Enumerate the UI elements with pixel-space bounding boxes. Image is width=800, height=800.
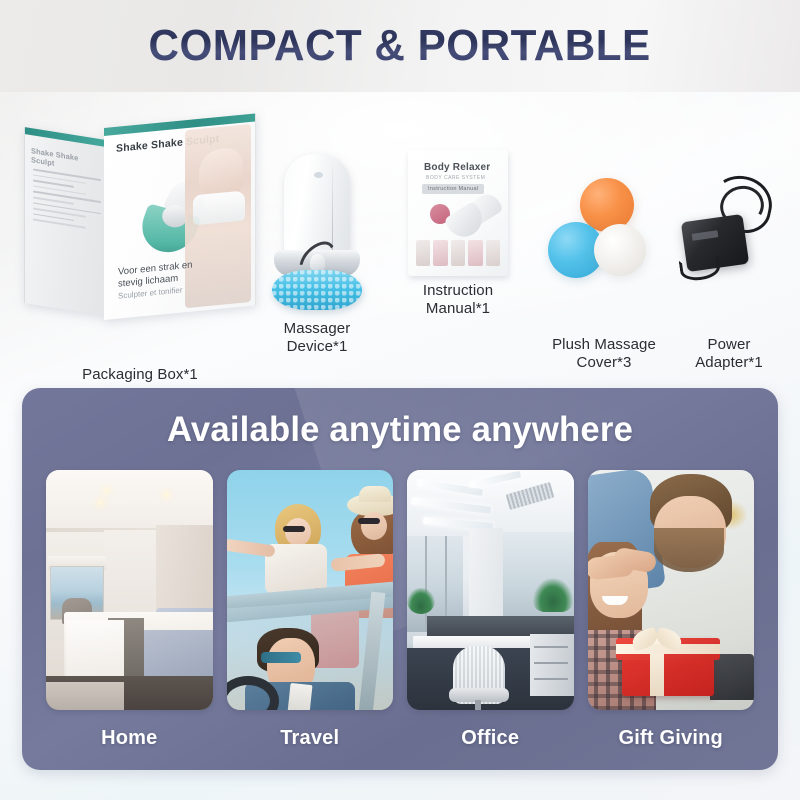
travel-woman2-face bbox=[361, 512, 387, 540]
caption-instruction-manual: Instruction Manual*1 bbox=[386, 282, 530, 319]
caption-manual-line1: Instruction bbox=[386, 282, 530, 300]
caption-manual-line2: Manual*1 bbox=[386, 300, 530, 318]
adapter-cable-tail bbox=[679, 255, 722, 282]
home-bed-throw bbox=[66, 620, 124, 682]
office-chair-base bbox=[475, 700, 481, 710]
device-highlight bbox=[314, 172, 323, 178]
caption-packaging-box: Packaging Box*1 bbox=[24, 366, 256, 384]
caption-power-adapter: Power Adapter*1 bbox=[652, 336, 800, 373]
home-ceiling bbox=[46, 470, 213, 532]
caption-home: Home bbox=[46, 727, 213, 750]
gift-man-beard bbox=[654, 528, 724, 572]
home-rug bbox=[46, 682, 124, 710]
packaging-box-illustration: Shake Shake Sculpt Shake Shake Sculpt bbox=[24, 128, 256, 328]
office-cabinet bbox=[530, 634, 574, 696]
travel-woman2-sunglasses bbox=[358, 518, 380, 524]
travel-woman1-arm bbox=[227, 538, 276, 557]
caption-massager-device: Massager Device*1 bbox=[244, 320, 390, 357]
caption-gift-giving: Gift Giving bbox=[588, 727, 755, 750]
office-plant bbox=[407, 588, 435, 614]
manual-subtitle: BODY CARE SYSTEM bbox=[426, 175, 485, 181]
device-power-button bbox=[310, 254, 325, 271]
page-title: COMPACT & PORTABLE bbox=[149, 21, 651, 71]
gift-woman-smile bbox=[602, 596, 628, 605]
use-case-card-office[interactable] bbox=[407, 470, 574, 710]
home-ceiling-light bbox=[104, 488, 109, 493]
home-ceiling-light bbox=[164, 492, 169, 497]
manual-badge: Instruction Manual bbox=[422, 184, 484, 194]
travel-driver-collar bbox=[287, 683, 312, 710]
office-plant bbox=[533, 578, 573, 612]
box-side-teal-band bbox=[25, 127, 106, 147]
home-scene-image bbox=[46, 470, 213, 710]
panel-title: Available anytime anywhere bbox=[26, 410, 774, 450]
component-power-adapter: Power Adapter*1 bbox=[676, 174, 782, 284]
box-model-top bbox=[193, 190, 245, 225]
component-instruction-manual: Body Relaxer BODY CARE SYSTEM Instructio… bbox=[408, 150, 508, 276]
home-duvet bbox=[142, 630, 213, 682]
caption-travel: Travel bbox=[227, 727, 394, 750]
device-plush-pad bbox=[272, 270, 362, 310]
component-plush-covers: Plush Massage Cover*3 bbox=[548, 178, 660, 284]
caption-massager-line1: Massager bbox=[244, 320, 390, 338]
use-case-card-travel[interactable] bbox=[227, 470, 394, 710]
travel-woman1-face bbox=[285, 518, 311, 546]
travel-woman1-sunglasses bbox=[283, 526, 305, 532]
component-massager-device: Massager Device*1 bbox=[268, 154, 366, 314]
office-scene-image bbox=[407, 470, 574, 710]
home-ceiling-light bbox=[98, 500, 103, 505]
travel-woman2-hat-crown bbox=[359, 486, 391, 502]
use-cases-panel: Available anytime anywhere bbox=[22, 388, 778, 770]
box-side-text-lines bbox=[33, 168, 101, 235]
caption-office: Office bbox=[407, 727, 574, 750]
use-case-card-row bbox=[46, 470, 754, 710]
manual-thumbnail-row bbox=[416, 240, 500, 266]
manual-cover: Body Relaxer BODY CARE SYSTEM Instructio… bbox=[408, 150, 508, 276]
device-seam bbox=[332, 158, 333, 258]
use-case-caption-row: Home Travel Office Gift Giving bbox=[46, 718, 754, 758]
travel-driver-sunglasses bbox=[261, 652, 301, 663]
gift-scene-image bbox=[588, 470, 755, 710]
travel-scene-image bbox=[227, 470, 394, 710]
infographic-page: COMPACT & PORTABLE Shake Shake Sculpt Sh… bbox=[0, 0, 800, 800]
box-front-panel: Shake Shake Sculpt Voor een strak en ste… bbox=[104, 113, 256, 320]
use-case-card-home[interactable] bbox=[46, 470, 213, 710]
box-side-panel: Shake Shake Sculpt bbox=[24, 127, 106, 316]
caption-adapter-line1: Power bbox=[652, 336, 800, 354]
caption-adapter-line2: Adapter*1 bbox=[652, 354, 800, 372]
components-strip: Shake Shake Sculpt Shake Shake Sculpt bbox=[0, 96, 800, 368]
manual-device-graphic bbox=[446, 196, 500, 238]
use-case-card-gift-giving[interactable] bbox=[588, 470, 755, 710]
box-model-head bbox=[199, 147, 243, 197]
component-packaging-box: Shake Shake Sculpt Shake Shake Sculpt bbox=[24, 128, 256, 328]
manual-title: Body Relaxer bbox=[424, 162, 490, 173]
plush-cover-white bbox=[594, 224, 646, 276]
header-banner: COMPACT & PORTABLE bbox=[0, 0, 800, 92]
gift-sofa bbox=[710, 654, 754, 700]
caption-massager-line2: Device*1 bbox=[244, 338, 390, 356]
